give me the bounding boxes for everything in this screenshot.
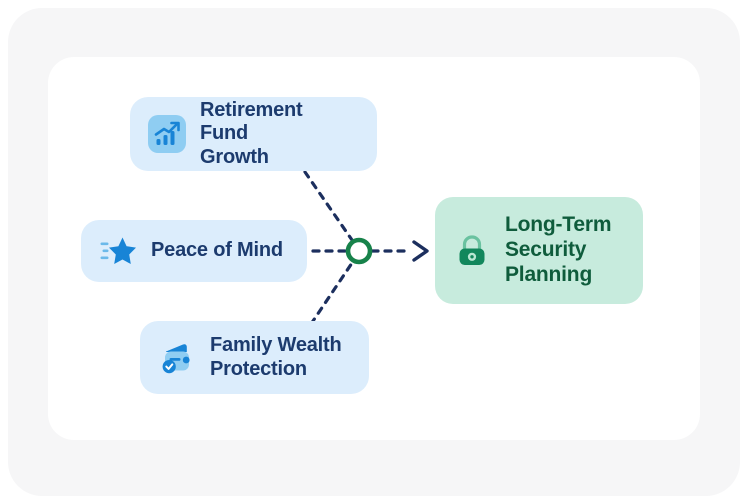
node-label-retirement-fund-growth: Retirement Fund Growth — [200, 99, 355, 170]
diagram-canvas: Retirement Fund Growth Peace of Mind F — [0, 0, 748, 504]
node-card-long-term-security-planning[interactable]: Long-Term Security Planning — [435, 197, 643, 304]
connector-retirement-to-hub — [305, 172, 352, 240]
node-card-family-wealth-protection[interactable]: Family Wealth Protection — [140, 321, 369, 394]
padlock-icon — [453, 232, 491, 270]
node-label-peace-of-mind: Peace of Mind — [151, 239, 283, 263]
wallet-check-icon — [158, 339, 196, 377]
node-label-long-term-security-planning: Long-Term Security Planning — [505, 213, 611, 287]
chart-growth-icon — [148, 115, 186, 153]
connector-family-to-hub — [311, 263, 352, 324]
screenshot-root: Retirement Fund Growth Peace of Mind F — [0, 0, 748, 504]
star-motion-icon — [99, 232, 137, 270]
node-label-family-wealth-protection: Family Wealth Protection — [210, 334, 342, 381]
node-card-peace-of-mind[interactable]: Peace of Mind — [81, 220, 307, 282]
arrowhead-icon — [414, 242, 427, 260]
node-card-retirement-fund-growth[interactable]: Retirement Fund Growth — [130, 97, 377, 171]
junction-node-icon — [348, 240, 370, 262]
